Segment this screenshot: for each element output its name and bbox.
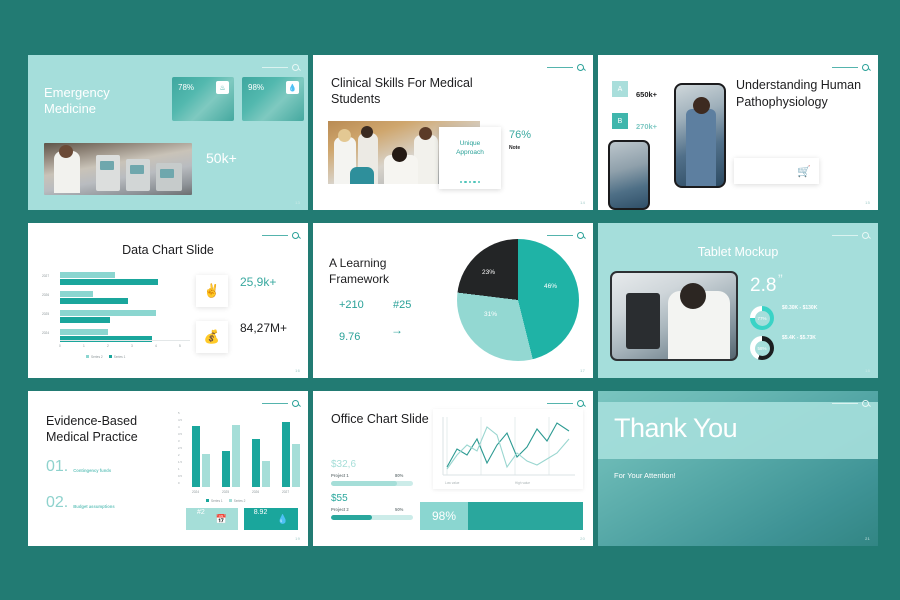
cart-card[interactable]: 🛒: [734, 158, 819, 184]
lab-technician-photo: [44, 143, 192, 195]
project-percent: 80%: [395, 473, 403, 478]
x-tick-label: 2024: [192, 490, 199, 494]
slide-title: Understanding Human Pathophysiology: [736, 77, 871, 111]
card-title: UniqueApproach: [439, 139, 501, 157]
hand-care-icon: ✌: [196, 275, 228, 307]
slide-human-pathophysiology[interactable]: A 650k+ B 270k+ Understanding Human Path…: [598, 55, 878, 210]
note-label: Note: [509, 145, 520, 151]
x-axis: [60, 340, 190, 341]
bar-series2: [60, 310, 156, 316]
big-number: 50k+: [206, 150, 237, 166]
x-tick-label: 2026: [252, 490, 259, 494]
ring-percent: 58%: [757, 346, 766, 351]
slide-title: Clinical Skills For Medical Students: [331, 75, 511, 107]
page-number: 17: [580, 368, 585, 373]
line-chart: Low value High value: [433, 409, 583, 489]
y-tick-label: 2024: [42, 331, 49, 335]
bar-series1: [60, 298, 128, 304]
column-series1: [282, 422, 290, 487]
page-number: 14: [580, 200, 585, 205]
x-tick-label: 3: [131, 344, 133, 348]
page-number: 19: [295, 536, 300, 541]
y-tick-label: 3: [178, 439, 180, 443]
column-series2: [292, 444, 300, 487]
slide-title: Data Chart Slide: [28, 243, 308, 257]
slide-evidence-based-practice[interactable]: Evidence-Based Medical Practice 01. Cont…: [28, 391, 308, 546]
kpi-value: 25,9k+: [240, 275, 276, 289]
search-deco-icon: [262, 64, 299, 71]
pie-label: 23%: [482, 269, 495, 276]
project-amount: $55: [331, 493, 348, 504]
bar-series1: [60, 317, 110, 323]
kpi-value: 84,27M+: [240, 321, 287, 335]
progress-bar: [331, 481, 413, 486]
slide-title: Office Chart Slide: [331, 411, 431, 427]
axis-label-right: High value: [515, 481, 530, 485]
y-tick-label: 5: [178, 411, 180, 415]
bar-series2: [60, 272, 115, 278]
search-deco-icon: [547, 232, 584, 239]
bar-series1: [60, 336, 152, 342]
search-deco-icon: [262, 400, 299, 407]
column-series1: [222, 451, 230, 487]
progress-bar: [331, 515, 413, 520]
search-deco-icon: [832, 232, 869, 239]
y-tick-label: 2026: [42, 293, 49, 297]
pie-label: 31%: [484, 311, 497, 318]
page-number: 16: [295, 368, 300, 373]
item-body: Contingency funds: [73, 459, 161, 477]
slide-data-chart[interactable]: Data Chart Slide 2027 2026 2025 2024 0 1…: [28, 223, 308, 378]
y-tick-label: 3.5: [178, 432, 182, 436]
stat-box-text: 8.92 Ratings: [254, 501, 268, 537]
banner-text: [468, 502, 583, 530]
slide-title: Thank You: [614, 413, 737, 444]
pie-chart: [457, 239, 579, 361]
x-tick-label: 4: [155, 344, 157, 348]
x-tick-label: 1: [83, 344, 85, 348]
blood-drop-icon: 💧: [286, 81, 299, 94]
coins-icon: 💰: [196, 321, 228, 353]
search-deco-icon: [262, 232, 299, 239]
bar-series1: [60, 279, 158, 285]
column-series1: [192, 426, 200, 487]
line-chart-svg: [433, 409, 583, 489]
search-deco-icon: [547, 64, 584, 71]
banner-percent: 98%: [420, 502, 468, 530]
project-percent: 50%: [395, 507, 403, 512]
y-tick-label: 4: [178, 425, 180, 429]
item-number: 02.: [46, 495, 68, 513]
y-tick-label: 1: [178, 467, 180, 471]
arrow-right-icon[interactable]: →: [391, 323, 403, 337]
kpi-value: #25: [393, 299, 411, 311]
page-number: 13: [295, 200, 300, 205]
slide-grid: EmergencyMedicine 78% ♨ 98% 💧 50k+ 13: [28, 55, 878, 549]
stat-box[interactable]: 8.92 Ratings 💧: [244, 508, 298, 530]
slide-title: EmergencyMedicine: [44, 85, 110, 117]
metric-badge: A: [612, 81, 628, 97]
list-item: 02. Budget assumptions: [46, 495, 161, 513]
column-chart: 5 4.5 4 3.5 3 2.5 2 1.5 1 0.5 0 2024 202…: [178, 411, 298, 499]
item-number: 01.: [46, 459, 68, 477]
y-tick-label: 2025: [42, 312, 49, 316]
search-deco-icon: [832, 400, 869, 407]
slide-learning-framework[interactable]: A Learning Framework +210 #25 9.76 → 46%…: [313, 223, 593, 378]
column-series2: [262, 461, 270, 487]
bar-series2: [60, 329, 108, 335]
horizontal-bar-chart: 2027 2026 2025 2024 0 1 2 3 4 5 Series 2: [42, 271, 190, 353]
highlight-banner: 98%: [420, 502, 583, 530]
page-number: 15: [865, 200, 870, 205]
legend-series1: Series 1: [206, 499, 223, 503]
page-number: 21: [865, 536, 870, 541]
y-tick-label: 4.5: [178, 418, 182, 422]
metric-value: 270k+: [636, 122, 657, 131]
x-tick-label: 2: [107, 344, 109, 348]
y-tick-label: 2.5: [178, 446, 182, 450]
y-tick-label: 2027: [42, 274, 49, 278]
shopping-cart-icon[interactable]: 🛒: [797, 165, 811, 178]
search-deco-icon: [547, 400, 584, 407]
legend-series1: Series 1: [109, 355, 126, 359]
unique-approach-card[interactable]: UniqueApproach: [439, 127, 501, 189]
project-amount: $32,6: [331, 459, 356, 470]
list-item: 01. Contingency funds: [46, 459, 161, 477]
stat-box-unit: Top: [197, 529, 202, 533]
y-tick-label: 1.5: [178, 460, 182, 464]
search-deco-icon: [832, 64, 869, 71]
stat-card[interactable]: 78% ♨: [172, 77, 234, 121]
ring-label: $5.4K - $5.73K: [782, 335, 816, 341]
chart-legend: Series 2 Series 1: [86, 355, 125, 359]
column-series1: [252, 439, 260, 487]
quote-mark: ”: [778, 271, 783, 287]
slide-office-chart[interactable]: Office Chart Slide $32,6 Project 1 80% $…: [313, 391, 593, 546]
slide-tablet-mockup[interactable]: Tablet Mockup 2.8 ” 77% $0.30K - $130K 5…: [598, 223, 878, 378]
slide-clinical-skills[interactable]: Clinical Skills For Medical Students Uni…: [313, 55, 593, 210]
bar-series2: [60, 291, 93, 297]
stat-box-text: #2 Top: [197, 501, 205, 537]
stat-value: 98%: [248, 83, 264, 92]
ring-percent: 77%: [757, 316, 766, 321]
kpi-value: +210: [339, 299, 364, 311]
progress-ring: 58%: [750, 336, 774, 360]
slide-title: A Learning Framework: [329, 255, 429, 287]
stat-box[interactable]: #2 Top 📅: [186, 508, 238, 530]
slide-emergency-medicine[interactable]: EmergencyMedicine 78% ♨ 98% 💧 50k+ 13: [28, 55, 308, 210]
x-tick-label: 0: [59, 344, 61, 348]
tablet-mockup-photo: [610, 271, 738, 361]
slide-title: Evidence-Based Medical Practice: [46, 413, 176, 445]
y-tick-label: 0.5: [178, 474, 182, 478]
x-tick-label: 2027: [282, 490, 289, 494]
stat-value: 78%: [178, 83, 194, 92]
chart-legend: Series 1 Series 2: [206, 499, 245, 503]
legend-series2: Series 2: [229, 499, 246, 503]
y-tick-label: 2: [178, 453, 180, 457]
metric-badge: B: [612, 113, 628, 129]
stat-box-value: 8.92: [254, 509, 268, 516]
page-number: 18: [865, 368, 870, 373]
page-number: 20: [580, 536, 585, 541]
percent-value: 76%: [509, 129, 531, 141]
slide-title: Tablet Mockup: [598, 245, 878, 259]
drop-icon: 💧: [277, 514, 288, 525]
project-label: Project 1: [331, 473, 349, 478]
item-heading: Budget assumptions: [73, 504, 114, 509]
x-tick-label: 5: [179, 344, 181, 348]
project-label: Project 2: [331, 507, 349, 512]
phone-mockup-small: [608, 140, 650, 210]
calendar-icon: 📅: [216, 514, 227, 525]
y-tick-label: 0: [178, 481, 180, 485]
column-series2: [232, 425, 240, 487]
metric-value: 650k+: [636, 90, 657, 99]
slide-subtitle: For Your Attention!: [614, 471, 676, 480]
column-series2: [202, 454, 210, 487]
legend-series2: Series 2: [86, 355, 103, 359]
progress-ring: 77%: [750, 306, 774, 330]
item-heading: Contingency funds: [73, 468, 111, 473]
kpi-value: 9.76: [339, 331, 360, 343]
x-tick-label: 2025: [222, 490, 229, 494]
ring-label: $0.30K - $130K: [782, 305, 817, 311]
carousel-dots[interactable]: [439, 181, 501, 184]
stat-box-value: #2: [197, 509, 205, 516]
axis-label-left: Low value: [445, 481, 459, 485]
slide-thank-you[interactable]: Thank You For Your Attention! 21: [598, 391, 878, 546]
item-body: Budget assumptions: [73, 495, 161, 513]
stat-box-unit: Ratings: [254, 529, 264, 533]
phone-mockup-large: [674, 83, 726, 188]
stat-card[interactable]: 98% 💧: [242, 77, 304, 121]
pie-label: 46%: [544, 283, 557, 290]
lungs-icon: ♨: [216, 81, 229, 94]
rating-value: 2.8: [750, 275, 776, 297]
